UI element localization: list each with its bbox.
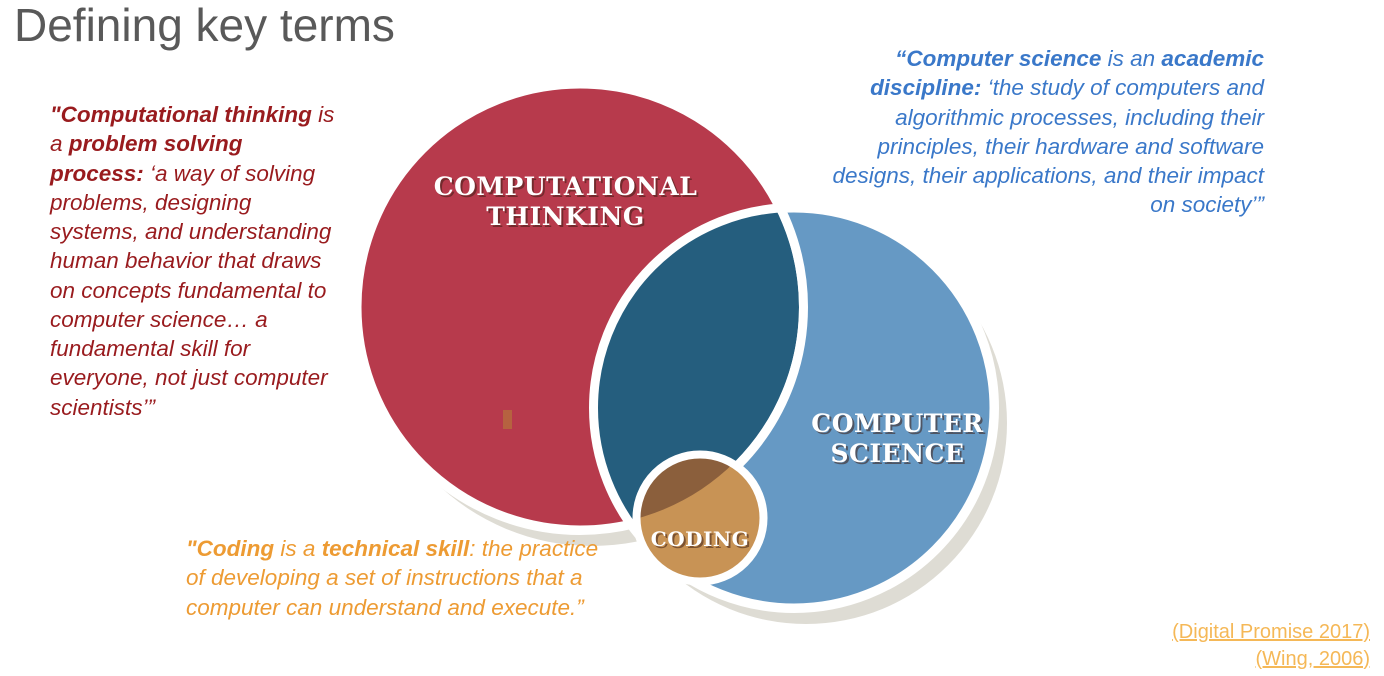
citation-list: (Digital Promise 2017) (Wing, 2006): [1172, 619, 1370, 672]
quote-computer-science: “Computer science is an academic discipl…: [812, 44, 1264, 220]
quote-cs-mid: is an: [1101, 46, 1161, 71]
quote-ct-open: ": [50, 102, 61, 127]
citation-link-digital-promise[interactable]: (Digital Promise 2017): [1172, 619, 1370, 645]
quote-cd-open: ": [186, 536, 197, 561]
venn-label-computational-thinking: COMPUTATIONAL THINKING: [398, 172, 733, 231]
quote-computational-thinking: "Computational thinking is a problem sol…: [50, 100, 336, 422]
citation-link-wing[interactable]: (Wing, 2006): [1172, 646, 1370, 672]
quote-coding: "Coding is a technical skill: the practi…: [186, 534, 606, 622]
quote-ct-body: ‘a way of solving problems, designing sy…: [50, 161, 331, 420]
slide-canvas: Defining key terms: [0, 0, 1384, 676]
quote-cd-kind: technical skill: [322, 536, 470, 561]
quote-cs-term: Computer science: [906, 46, 1101, 71]
quote-cs-open: “: [895, 46, 906, 71]
venn-label-computer-science: COMPUTER SCIENCE: [790, 409, 1005, 468]
quote-cd-term: Coding: [197, 536, 274, 561]
venn-label-coding: CODING: [630, 528, 770, 552]
quote-ct-term: Computational thinking: [61, 102, 312, 127]
speck-mark: [503, 410, 512, 429]
quote-cd-mid: is a: [274, 536, 322, 561]
